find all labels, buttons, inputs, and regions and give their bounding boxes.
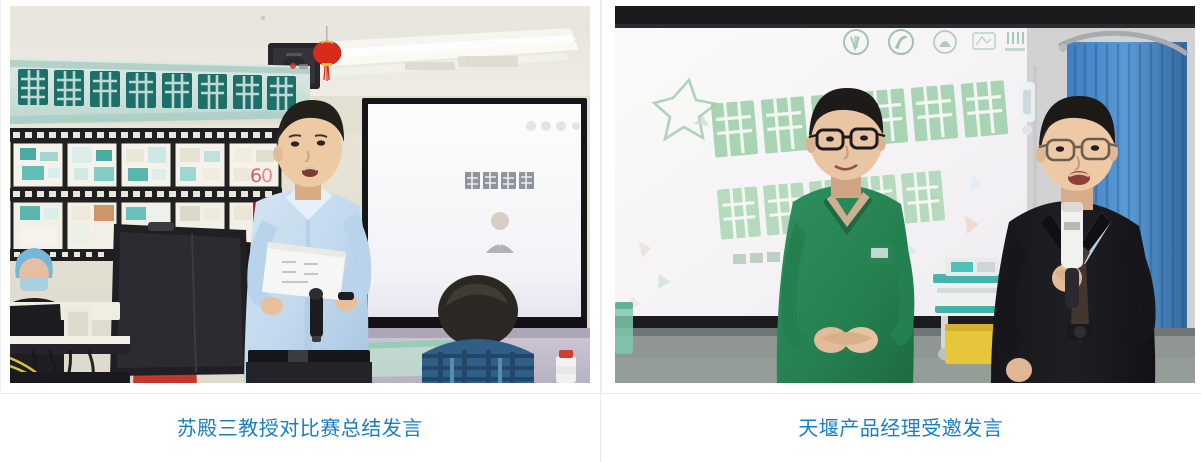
gallery-cell-left[interactable]: 6 0 xyxy=(0,0,601,462)
caption-right: 天堰产品经理受邀发言 xyxy=(601,394,1201,440)
water-bottle xyxy=(556,350,576,383)
photo-left[interactable]: 6 0 xyxy=(10,6,590,383)
svg-text:0: 0 xyxy=(261,165,273,187)
photo-right[interactable] xyxy=(615,6,1195,383)
event-banner xyxy=(10,58,310,124)
gallery-cell-right[interactable]: 天堰产品经理受邀发言 xyxy=(601,0,1201,462)
right-edge-rule xyxy=(601,0,602,392)
microphone-icon xyxy=(309,288,323,342)
left-edge-rule xyxy=(0,0,1,392)
speech-paper xyxy=(262,242,346,300)
caption-left: 苏殿三教授对比赛总结发言 xyxy=(0,394,600,440)
photo-gallery: 6 0 xyxy=(0,0,1201,462)
